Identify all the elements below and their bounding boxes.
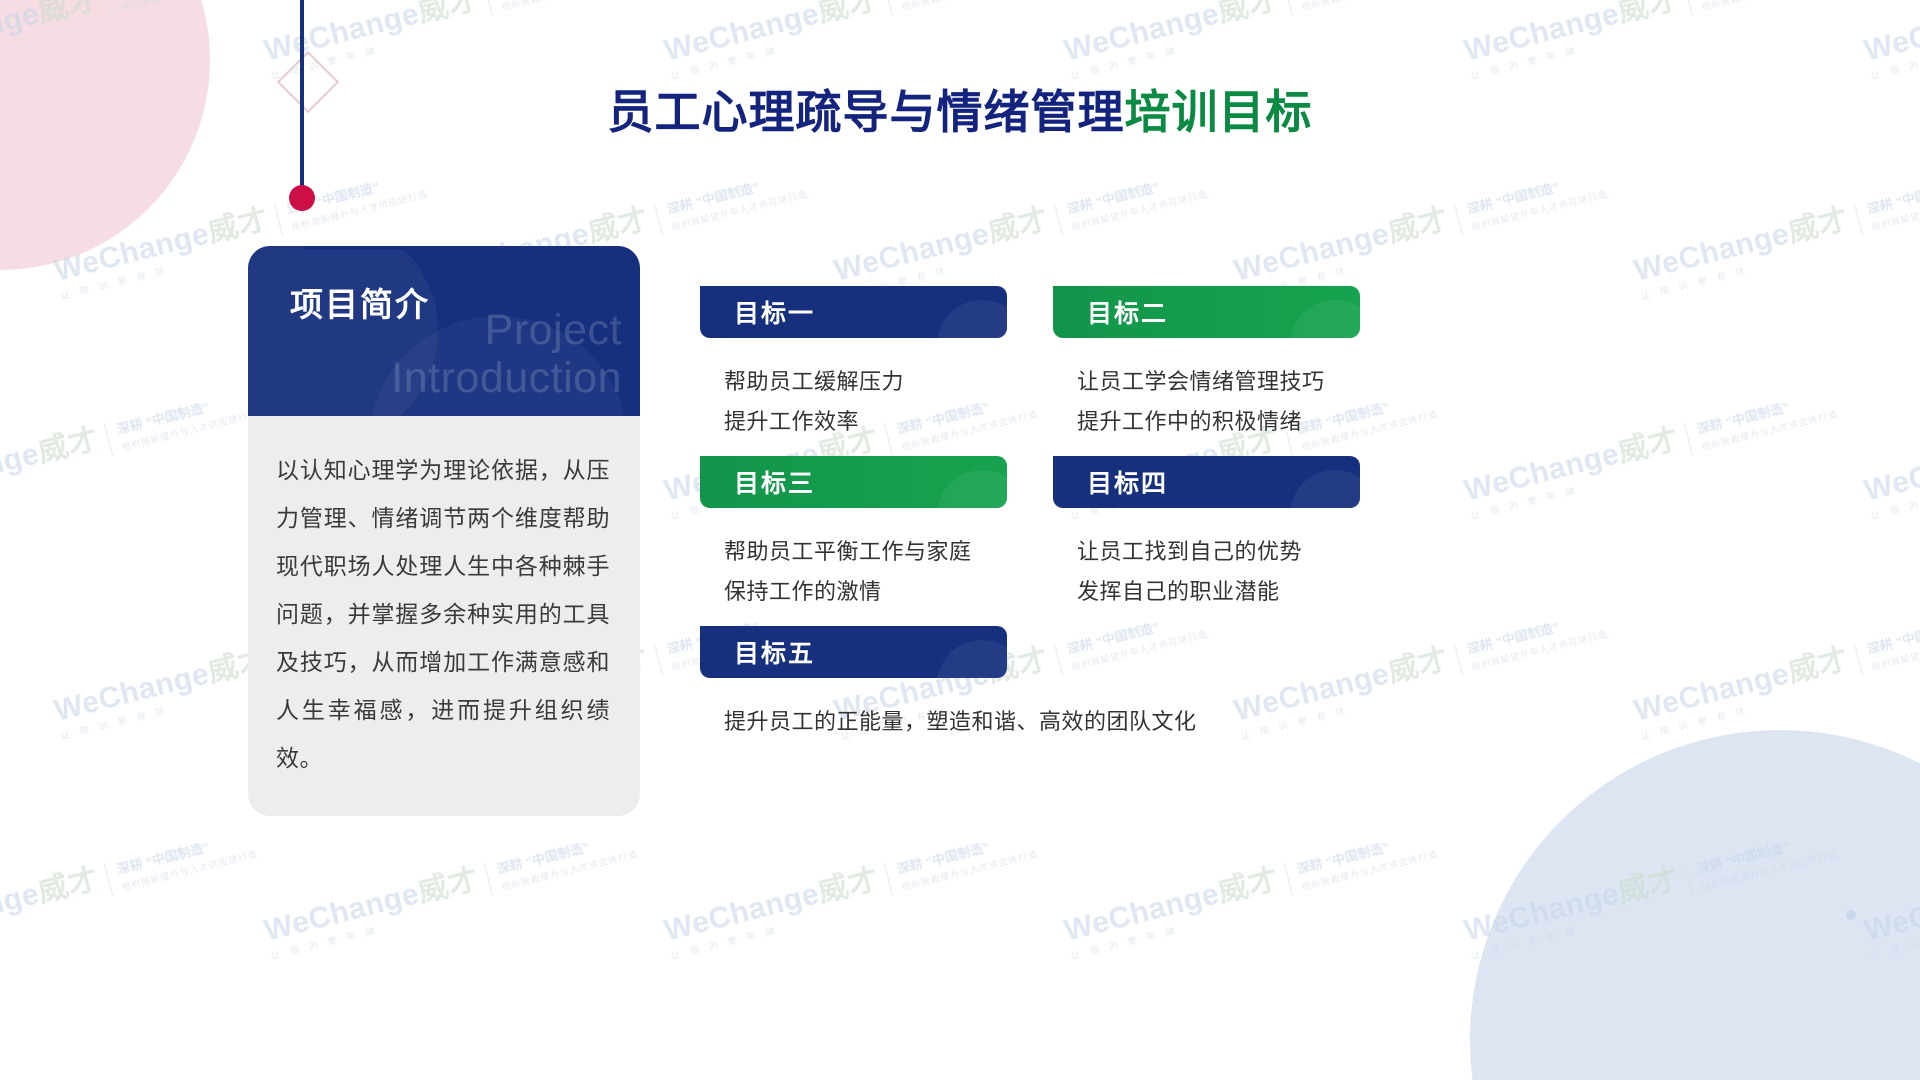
- goals-row-3: 目标五 提升员工的正能量，塑造和谐、高效的团队文化: [700, 626, 1360, 756]
- goal-label-2: 目标二: [1087, 294, 1168, 330]
- goal-label-5: 目标五: [734, 634, 815, 670]
- project-intro-body: 以认知心理学为理论依据，从压力管理、情绪调节两个维度帮助现代职场人处理人生中各种…: [248, 416, 640, 816]
- watermark-tagline-2: 组织效能提升与人才供应链打造: [120, 407, 259, 453]
- watermark-slogan: 让 培 训 更 有 效: [269, 896, 485, 962]
- watermark-divider: [884, 862, 893, 895]
- goal-desc-2: 让员工学会情绪管理技巧 提升工作中的积极情绪: [1053, 362, 1360, 442]
- goal-chip-3[interactable]: 目标三: [700, 456, 1007, 508]
- watermark-tagline-1: 深耕 “中国制造”: [1295, 825, 1435, 877]
- project-intro-paragraph: 以认知心理学为理论依据，从压力管理、情绪调节两个维度帮助现代职场人处理人生中各种…: [276, 446, 610, 782]
- goal-notch-icon-4: [1053, 456, 1089, 457]
- watermark-brand: WeChange威才: [0, 414, 102, 510]
- watermark-tagline-2: 组织效能提升与人才供应链打造: [1470, 187, 1609, 233]
- watermark-divider: [1854, 202, 1863, 235]
- watermark-tagline-2: 组织效能提升与人才供应链打造: [900, 847, 1039, 893]
- project-intro-header: 项目简介 Project Introduction: [248, 246, 640, 416]
- watermark-divider: [1684, 0, 1693, 16]
- goal-desc-3: 帮助员工平衡工作与家庭 保持工作的激情: [700, 532, 1007, 612]
- goal-card-5[interactable]: 目标五 提升员工的正能量，塑造和谐、高效的团队文化: [700, 626, 1007, 742]
- watermark-tagline-2: 组织效能提升与人才供应链打造: [1470, 627, 1609, 673]
- project-intro-card: 项目简介 Project Introduction 以认知心理学为理论依据，从压…: [248, 246, 640, 816]
- watermark-tagline-2: 组织效能提升与人才供应链打造: [1870, 187, 1920, 233]
- watermark-divider: [1684, 422, 1693, 455]
- watermark-tagline-1: 深耕 “中国制造”: [1065, 165, 1205, 217]
- watermark-slogan: 让 培 训 更 有 效: [59, 676, 275, 742]
- watermark-divider: [484, 0, 493, 16]
- goal-desc-1: 帮助员工缓解压力 提升工作效率: [700, 362, 1007, 442]
- goal-chip-2[interactable]: 目标二: [1053, 286, 1360, 338]
- watermark-brand: WeChange威才: [829, 194, 1053, 290]
- page-title-accent: 培训目标: [1125, 86, 1313, 138]
- goal-card-2[interactable]: 目标二 让员工学会情绪管理技巧 提升工作中的积极情绪: [1053, 286, 1360, 442]
- goal-desc-3-line1: 帮助员工平衡工作与家庭: [724, 532, 1007, 572]
- watermark-tagline-2: 组织效能提升与人才供应链打造: [900, 0, 1039, 13]
- watermark-tagline-2: 组织效能提升与人才供应链打造: [500, 847, 639, 893]
- watermark-tagline-2: 组织效能提升与人才供应链打造: [1300, 847, 1439, 893]
- goal-chip-4[interactable]: 目标四: [1053, 456, 1360, 508]
- watermark-divider: [104, 422, 113, 455]
- watermark-brand: WeChange威才: [259, 854, 483, 950]
- watermark-tagline-1: 深耕 “中国制造”: [665, 165, 805, 217]
- watermark-brand: WeChange威才: [659, 854, 883, 950]
- goal-notch-icon-5: [700, 626, 736, 627]
- watermark-tile: WeChange威才让 培 训 更 有 效深耕 “中国制造”组织效能提升与人才供…: [1459, 375, 1842, 522]
- watermark-brand: WeChange威才: [659, 0, 883, 70]
- watermark-slogan: 让 培 训 更 有 效: [1069, 896, 1285, 962]
- goal-desc-4: 让员工找到自己的优势 发挥自己的职业潜能: [1053, 532, 1360, 612]
- watermark-slogan: 让 培 训 更 有 效: [0, 456, 105, 522]
- small-dot-decoration: [1846, 910, 1856, 920]
- watermark-tagline-2: 组织效能提升与人才供应链打造: [1870, 627, 1920, 673]
- watermark-tagline-1: 深耕 “中国制造”: [1695, 385, 1835, 437]
- watermark-tile: WeChange威才让 培 训 更 有 效深耕 “中国制造”组织效能提升与人才供…: [1059, 815, 1442, 962]
- watermark-brand: WeChange威才: [0, 854, 102, 950]
- watermark-tile: WeChange威才让 培 训 更 有 效深耕 “中国制造”组织效能提升与人才供…: [0, 815, 262, 962]
- watermark-tagline-2: 组织效能提升与人才供应链打造: [500, 0, 639, 13]
- project-intro-english-line2: Introduction: [391, 354, 622, 402]
- goal-chip-1[interactable]: 目标一: [700, 286, 1007, 338]
- watermark-tagline-2: 组织效能提升与人才供应链打造: [1070, 187, 1209, 233]
- watermark-tagline-2: 组织效能提升与人才供应链打造: [120, 847, 259, 893]
- goal-label-4: 目标四: [1087, 464, 1168, 500]
- watermark-brand: WeChange威才: [1859, 414, 1920, 510]
- watermark-tile: WeChange威才让 培 训 更 有 效深耕 “中国制造”组织效能提升与人才供…: [1859, 0, 1920, 82]
- watermark-slogan: 让 培 训 更 有 效: [669, 16, 885, 82]
- goal-desc-5: 提升员工的正能量，塑造和谐、高效的团队文化: [700, 702, 1360, 742]
- goal-notch-icon-1: [700, 286, 736, 287]
- goal-notch-icon-2: [1053, 286, 1089, 287]
- watermark-tagline-1: 深耕 “中国制造”: [895, 825, 1035, 877]
- watermark-divider: [654, 202, 663, 235]
- watermark-divider: [1454, 642, 1463, 675]
- goal-card-3[interactable]: 目标三 帮助员工平衡工作与家庭 保持工作的激情: [700, 456, 1007, 612]
- watermark-brand: WeChange威才: [1859, 0, 1920, 70]
- watermark-slogan: 让 培 训 更 有 效: [1869, 456, 1920, 522]
- watermark-divider: [1454, 202, 1463, 235]
- watermark-divider: [1854, 642, 1863, 675]
- goals-container: 目标一 帮助员工缓解压力 提升工作效率 目标二 让员工学会情绪管理技巧 提升工作…: [700, 286, 1360, 756]
- slide-root: WeChange威才让 培 训 更 有 效深耕 “中国制造”组织效能提升与人才供…: [0, 0, 1920, 1080]
- watermark-slogan: 让 培 训 更 有 效: [1069, 16, 1285, 82]
- goal-desc-5-line1: 提升员工的正能量，塑造和谐、高效的团队文化: [724, 702, 1360, 742]
- watermark-tile: WeChange威才让 培 训 更 有 效深耕 “中国制造”组织效能提升与人才供…: [1629, 595, 1920, 742]
- watermark-slogan: 让 培 训 更 有 效: [1469, 456, 1685, 522]
- watermark-tile: WeChange威才让 培 训 更 有 效深耕 “中国制造”组织效能提升与人才供…: [259, 815, 642, 962]
- goal-desc-2-line1: 让员工学会情绪管理技巧: [1077, 362, 1360, 402]
- watermark-slogan: 让 培 训 更 有 效: [0, 896, 105, 962]
- watermark-slogan: 让 培 训 更 有 效: [1639, 236, 1855, 302]
- watermark-tagline-2: 组织效能提升与人才供应链打造: [1700, 407, 1839, 453]
- callout-tail: [304, 246, 424, 250]
- project-intro-heading: 项目简介: [290, 278, 430, 326]
- watermark-tile: WeChange威才让 培 训 更 有 效深耕 “中国制造”组织效能提升与人才供…: [1059, 0, 1442, 82]
- watermark-tagline-1: 深耕 “中国制造”: [1865, 165, 1920, 217]
- watermark-divider: [274, 202, 283, 235]
- blue-circle-decoration: [1470, 730, 1920, 1080]
- watermark-tile: WeChange威才让 培 训 更 有 效深耕 “中国制造”组织效能提升与人才供…: [1459, 0, 1842, 82]
- watermark-divider: [654, 642, 663, 675]
- watermark-tile: WeChange威才让 培 训 更 有 效深耕 “中国制造”组织效能提升与人才供…: [659, 815, 1042, 962]
- watermark-tagline-1: 深耕 “中国制造”: [495, 825, 635, 877]
- watermark-divider: [484, 862, 493, 895]
- watermark-slogan: 让 培 训 更 有 效: [1869, 16, 1920, 82]
- page-title-main: 员工心理疏导与情绪管理: [608, 86, 1125, 138]
- watermark-divider: [1284, 0, 1293, 16]
- watermark-tile: WeChange威才让 培 训 更 有 效深耕 “中国制造”组织效能提升与人才供…: [1229, 155, 1612, 302]
- goals-row-2: 目标三 帮助员工平衡工作与家庭 保持工作的激情 目标四 让员工找到自己的优势 发…: [700, 456, 1360, 626]
- watermark-brand: WeChange威才: [1629, 634, 1853, 730]
- watermark-brand: WeChange威才: [49, 634, 273, 730]
- watermark-brand: WeChange威才: [1459, 414, 1683, 510]
- watermark-brand: WeChange威才: [1629, 194, 1853, 290]
- goal-desc-4-line2: 发挥自己的职业潜能: [1077, 572, 1360, 612]
- watermark-slogan: 让 培 训 更 有 效: [669, 896, 885, 962]
- goal-desc-1-line1: 帮助员工缓解压力: [724, 362, 1007, 402]
- goal-label-3: 目标三: [734, 464, 815, 500]
- watermark-brand: WeChange威才: [1059, 854, 1283, 950]
- watermark-brand: WeChange威才: [1059, 0, 1283, 70]
- watermark-divider: [884, 0, 893, 16]
- watermark-tagline-1: 深耕 “中国制造”: [115, 825, 255, 877]
- watermark-tile: WeChange威才让 培 训 更 有 效深耕 “中国制造”组织效能提升与人才供…: [829, 155, 1212, 302]
- watermark-tagline-2: 组织效能提升与人才供应链打造: [1300, 0, 1439, 13]
- watermark-tile: WeChange威才让 培 训 更 有 效深耕 “中国制造”组织效能提升与人才供…: [0, 375, 262, 522]
- goals-row-1: 目标一 帮助员工缓解压力 提升工作效率 目标二 让员工学会情绪管理技巧 提升工作…: [700, 286, 1360, 456]
- watermark-tile: WeChange威才让 培 训 更 有 效深耕 “中国制造”组织效能提升与人才供…: [1859, 375, 1920, 522]
- goal-desc-2-line2: 提升工作中的积极情绪: [1077, 402, 1360, 442]
- connector-dot: [289, 185, 315, 211]
- goal-notch-icon-3: [700, 456, 736, 457]
- watermark-tagline-2: 组织效能提升与人才供应链打造: [670, 187, 809, 233]
- watermark-brand: WeChange威才: [1229, 194, 1453, 290]
- goal-card-4[interactable]: 目标四 让员工找到自己的优势 发挥自己的职业潜能: [1053, 456, 1360, 612]
- goal-chip-5[interactable]: 目标五: [700, 626, 1007, 678]
- watermark-divider: [1284, 862, 1293, 895]
- goal-desc-3-line2: 保持工作的激情: [724, 572, 1007, 612]
- watermark-tile: WeChange威才让 培 训 更 有 效深耕 “中国制造”组织效能提升与人才供…: [1629, 155, 1920, 302]
- goal-card-1[interactable]: 目标一 帮助员工缓解压力 提升工作效率: [700, 286, 1007, 442]
- watermark-brand: WeChange威才: [259, 0, 483, 70]
- watermark-tagline-1: 深耕 “中国制造”: [115, 385, 255, 437]
- watermark-slogan: 让 培 训 更 有 效: [1469, 16, 1685, 82]
- page-title: 员工心理疏导与情绪管理培训目标: [0, 76, 1920, 142]
- watermark-tagline-1: 深耕 “中国制造”: [1465, 605, 1605, 657]
- watermark-divider: [104, 862, 113, 895]
- goal-desc-1-line2: 提升工作效率: [724, 402, 1007, 442]
- watermark-tagline-1: 深耕 “中国制造”: [1865, 605, 1920, 657]
- watermark-brand: WeChange威才: [1459, 0, 1683, 70]
- watermark-tagline-1: 深耕 “中国制造”: [1465, 165, 1605, 217]
- goal-label-1: 目标一: [734, 294, 815, 330]
- watermark-tile: WeChange威才让 培 训 更 有 效深耕 “中国制造”组织效能提升与人才供…: [659, 0, 1042, 82]
- goal-desc-4-line1: 让员工找到自己的优势: [1077, 532, 1360, 572]
- watermark-tagline-2: 组织效能提升与人才供应链打造: [1700, 0, 1839, 13]
- watermark-divider: [1054, 202, 1063, 235]
